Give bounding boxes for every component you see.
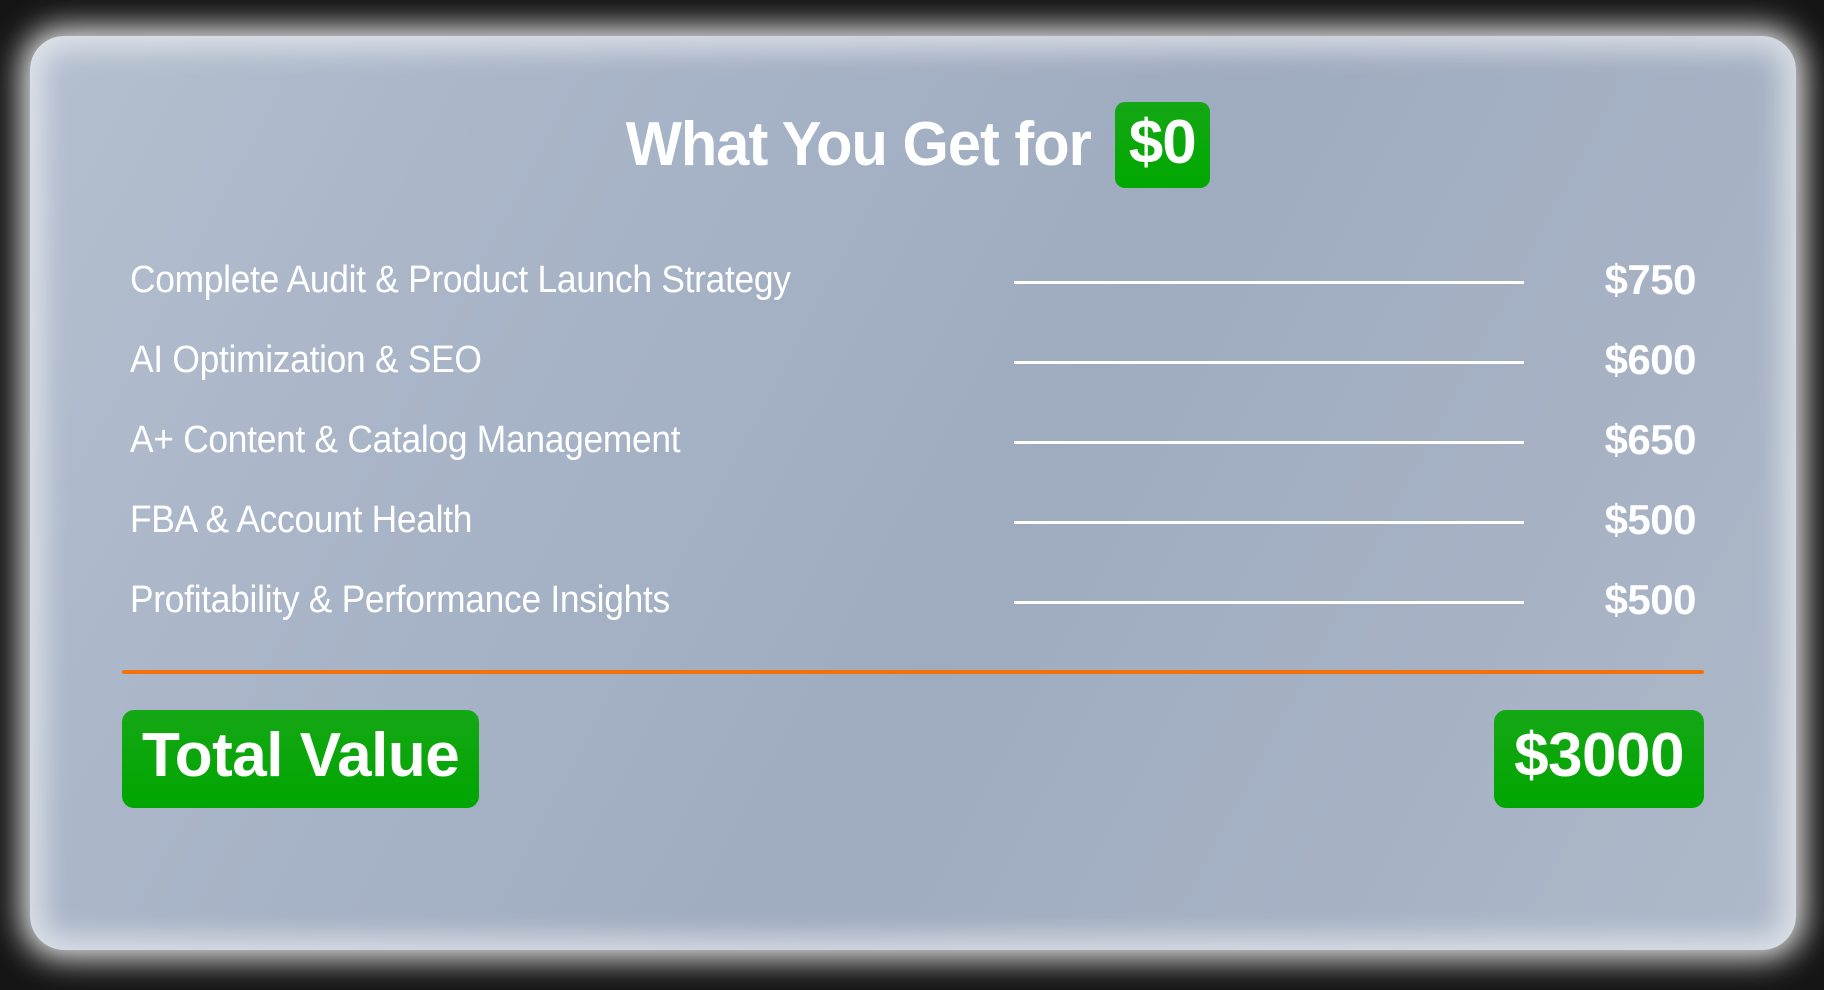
leader-line [1014, 601, 1524, 604]
list-item-label: FBA & Account Health [130, 499, 472, 542]
leader-line [1014, 281, 1524, 284]
value-item-list: Complete Audit & Product Launch Strategy… [104, 240, 1722, 640]
list-item-label: Profitability & Performance Insights [130, 579, 670, 622]
list-item: FBA & Account Health $500 [130, 480, 1696, 560]
list-item: Complete Audit & Product Launch Strategy… [130, 240, 1696, 320]
card-inner: What You Get for $0 Complete Audit & Pro… [30, 36, 1796, 950]
leader-line [1014, 441, 1524, 444]
list-item-price: $600 [1546, 336, 1696, 384]
leader-line [1014, 521, 1524, 524]
value-stack-card: What You Get for $0 Complete Audit & Pro… [30, 36, 1796, 950]
list-item-price: $500 [1546, 576, 1696, 624]
total-amount-badge: $3000 [1494, 710, 1704, 808]
list-item-price: $750 [1546, 256, 1696, 304]
title-price-badge: $0 [1115, 102, 1210, 188]
list-item-label: A+ Content & Catalog Management [130, 419, 680, 462]
list-item-price: $650 [1546, 416, 1696, 464]
total-amount-label: $3000 [1514, 725, 1684, 787]
list-item-price: $500 [1546, 496, 1696, 544]
total-divider [122, 670, 1704, 674]
list-item: AI Optimization & SEO $600 [130, 320, 1696, 400]
list-item: A+ Content & Catalog Management $650 [130, 400, 1696, 480]
slide-canvas: What You Get for $0 Complete Audit & Pro… [0, 0, 1824, 990]
total-row: Total Value $3000 [122, 710, 1704, 808]
total-value-badge: Total Value [122, 710, 479, 808]
list-item-label: AI Optimization & SEO [130, 339, 482, 382]
list-item: Profitability & Performance Insights $50… [130, 560, 1696, 640]
page-title: What You Get for $0 [104, 102, 1722, 188]
leader-line [1014, 361, 1524, 364]
total-value-label: Total Value [142, 725, 459, 787]
title-price-badge-label: $0 [1129, 112, 1196, 174]
list-item-label: Complete Audit & Product Launch Strategy [130, 259, 791, 302]
title-text: What You Get for [626, 114, 1091, 176]
